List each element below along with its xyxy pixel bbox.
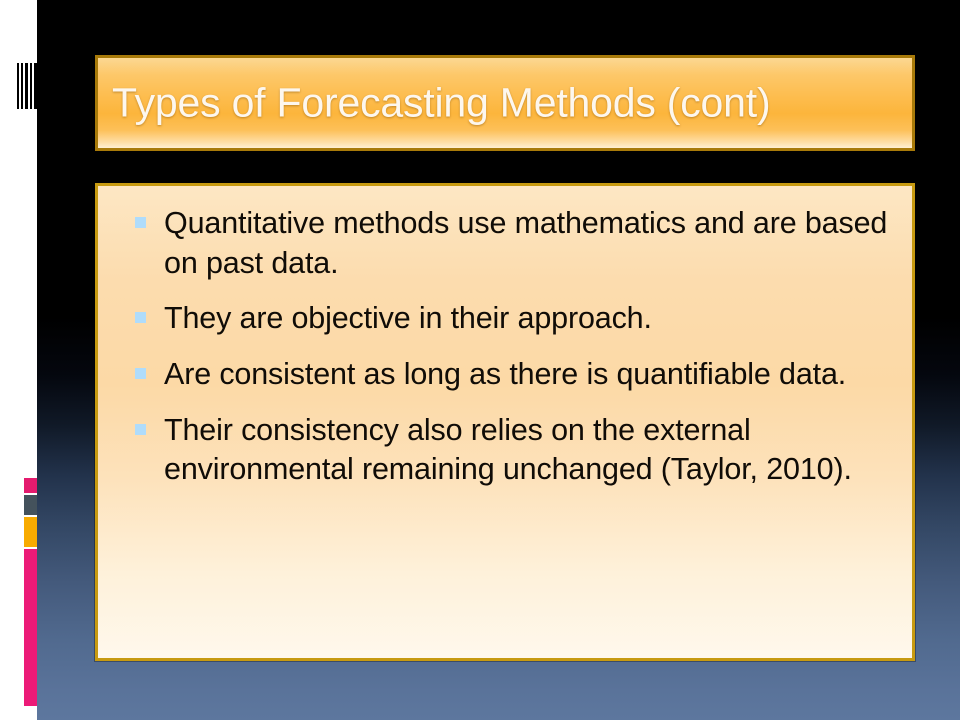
barcode-bar [34, 63, 41, 109]
page-title: Types of Forecasting Methods (cont) [112, 80, 770, 127]
list-item-text: They are objective in their approach. [164, 301, 652, 335]
list-item: They are objective in their approach. [116, 299, 890, 339]
slide-content-panel: Quantitative methods use mathematics and… [95, 183, 915, 661]
barcode-icon [17, 63, 41, 109]
list-item-text: Are consistent as long as there is quant… [164, 357, 846, 391]
barcode-bar [21, 63, 23, 109]
square-bullet-icon [135, 217, 146, 228]
list-item-text: Quantitative methods use mathematics and… [164, 206, 887, 280]
barcode-bar [30, 63, 32, 109]
square-bullet-icon [135, 368, 146, 379]
magenta-block [24, 549, 37, 706]
slate-block [24, 495, 37, 515]
decorative-color-blocks [24, 478, 37, 706]
list-item: Their consistency also relies on the ext… [116, 411, 890, 490]
list-item: Are consistent as long as there is quant… [116, 355, 890, 395]
list-item: Quantitative methods use mathematics and… [116, 204, 890, 283]
amber-block [24, 517, 37, 547]
slide-canvas: Types of Forecasting Methods (cont) Quan… [0, 0, 960, 720]
barcode-bar [25, 63, 28, 109]
list-item-text: Their consistency also relies on the ext… [164, 413, 852, 487]
square-bullet-icon [135, 312, 146, 323]
barcode-bar [17, 63, 19, 109]
pink-block [24, 478, 37, 493]
square-bullet-icon [135, 424, 146, 435]
bullet-list: Quantitative methods use mathematics and… [116, 204, 890, 490]
slide-title-bar: Types of Forecasting Methods (cont) [95, 55, 915, 151]
